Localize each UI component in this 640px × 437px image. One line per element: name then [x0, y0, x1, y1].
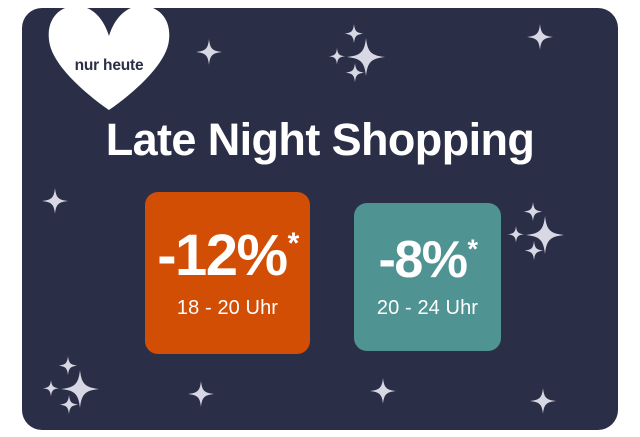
sparkle-icon	[188, 381, 214, 407]
sparkle-cluster-icon	[505, 196, 571, 267]
sparkle-icon	[370, 378, 396, 404]
sparkle-icon	[527, 24, 553, 50]
sparkle-icon	[42, 188, 68, 214]
discount-value-group: -8% *	[379, 234, 477, 286]
offer-card-8-percent[interactable]: -8% * 20 - 24 Uhr	[354, 203, 501, 351]
badge-label: nur heute	[48, 8, 170, 110]
discount-value: -12%	[157, 227, 286, 285]
screenshot-stage: nur heute Late Night Shopping -12% * 18 …	[0, 0, 640, 437]
offer-card-12-percent[interactable]: -12% * 18 - 20 Uhr	[145, 192, 310, 354]
sparkle-cluster-icon	[40, 350, 106, 421]
sparkle-icon	[530, 388, 556, 414]
discount-value: -8%	[379, 234, 467, 286]
discount-value-group: -12% *	[157, 227, 298, 285]
sparkle-cluster-icon	[326, 18, 392, 89]
sparkle-icon	[196, 39, 222, 65]
footnote-marker: *	[467, 236, 476, 263]
page-title: Late Night Shopping	[22, 115, 618, 165]
late-night-shopping-banner: nur heute Late Night Shopping -12% * 18 …	[22, 8, 618, 430]
nur-heute-badge: nur heute	[48, 8, 170, 110]
offer-time-range: 20 - 24 Uhr	[377, 297, 478, 320]
footnote-marker: *	[288, 229, 298, 259]
offer-time-range: 18 - 20 Uhr	[177, 297, 278, 320]
